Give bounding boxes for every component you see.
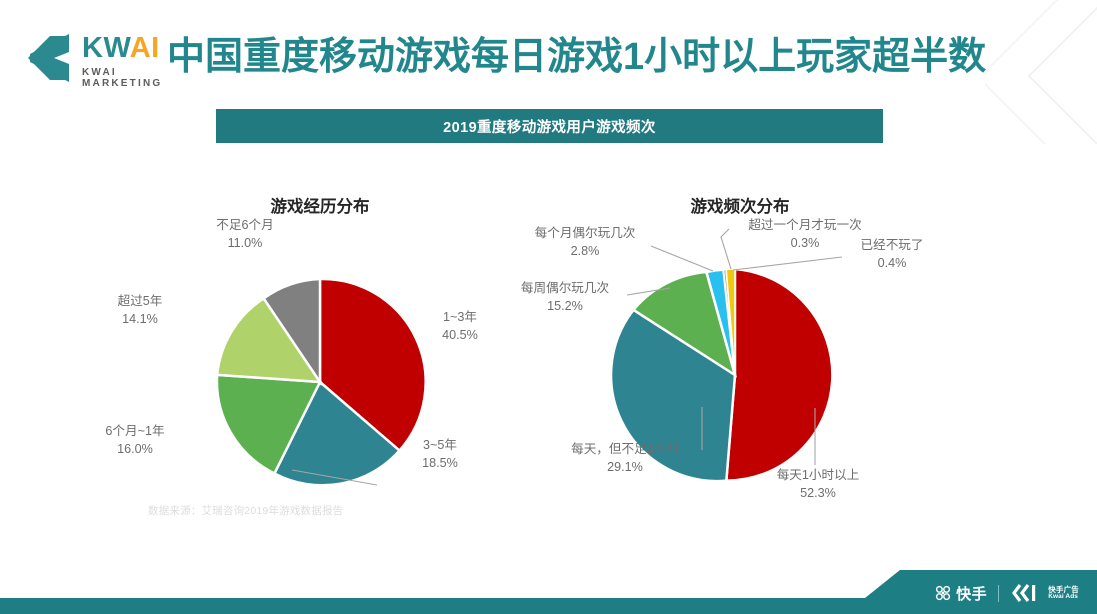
pie-label-3-5-years-value: 18.5% [385,455,495,473]
pie-label-daily-under-1h-name: 每天，但不足1小时 [571,442,679,456]
pie-label-6m-1year-name: 6个月~1年 [105,424,164,438]
leader-line-stopped-playing [733,257,842,270]
pie-label-stopped-playing-value: 0.4% [837,255,947,273]
page-title: 中国重度移动游戏每日游戏1小时以上玩家超半数 [167,38,986,76]
logo-wordmark: KWAI [82,34,174,63]
pie-label-under-6-months-value: 11.0% [180,235,310,253]
logo-tagline: KWAI MARKETING [82,67,174,89]
pie-label-monthly-occasional-value: 2.8% [505,243,665,261]
pie-label-over-5-years: 超过5年 14.1% [75,293,205,329]
section-subtitle-label: 2019重度移动游戏用户游戏频次 [443,116,656,137]
pie-label-stopped-playing: 已经不玩了 0.4% [837,237,947,273]
pie-label-daily-over-1h: 每天1小时以上 52.3% [743,467,893,503]
kwai-marketing-logo: KWAI KWAI MARKETING [24,30,174,86]
pie-label-weekly-occasional: 每周偶尔玩几次 15.2% [495,280,635,316]
kwai-ads-en: Kwai Ads [1048,594,1079,601]
pie-label-weekly-occasional-name: 每周偶尔玩几次 [521,281,609,295]
pie-label-daily-over-1h-name: 每天1小时以上 [777,468,860,482]
logo-wordmark-kw: KW [82,32,130,64]
logo-wordmark-ai: AI [130,32,160,64]
pie-label-under-6-months: 不足6个月 11.0% [180,217,310,253]
kuaishou-brand: 快手 [934,583,987,604]
pie-label-1-3-years-name: 1~3年 [443,310,477,324]
kwai-chevron-mark-icon [24,32,76,84]
kwai-ads-text: 快手广告 Kwai Ads [1048,586,1079,601]
page-footer [0,568,1097,614]
page-header: KWAI KWAI MARKETING 中国重度移动游戏每日游戏1小时以上玩家超… [0,0,1097,100]
pie-label-daily-over-1h-value: 52.3% [743,485,893,503]
pie-label-over-month-once-name: 超过一个月才玩一次 [748,218,861,232]
pie-label-1-3-years-value: 40.5% [405,327,515,345]
chart-gaming-experience: 游戏经历分布 不足6个月 11.0% 超过5年 14.1% 6个月~ [140,185,500,505]
pie-label-6m-1year-value: 16.0% [60,441,210,459]
pie-label-weekly-occasional-value: 15.2% [495,298,635,316]
pie-label-daily-under-1h: 每天，但不足1小时 29.1% [540,441,710,477]
slide-canvas: KWAI KWAI MARKETING 中国重度移动游戏每日游戏1小时以上玩家超… [0,0,1097,614]
pie-label-3-5-years: 3~5年 18.5% [385,437,495,473]
pie-label-monthly-occasional: 每个月偶尔玩几次 2.8% [505,225,665,261]
pie-label-under-6-months-name: 不足6个月 [216,218,273,232]
pie-label-6m-1year: 6个月~1年 16.0% [60,423,210,459]
chart-gaming-frequency: 游戏频次分布 超过一个月才玩一次 0.3% [555,185,955,515]
footer-divider [998,585,999,602]
pie-slice-daily-over-1h [726,269,832,481]
kuaishou-logo-icon [934,584,952,602]
pie-label-monthly-occasional-name: 每个月偶尔玩几次 [535,226,636,240]
kwai-ads-bars-icon [1010,583,1036,603]
footer-brand: 快手 快手广告 Kwai Ads [934,580,1079,606]
pie-label-3-5-years-name: 3~5年 [423,438,457,452]
kuaishou-brand-name: 快手 [956,583,987,604]
pie-label-over-5-years-name: 超过5年 [118,294,163,308]
section-subtitle-bar: 2019重度移动游戏用户游戏频次 [216,109,883,143]
pie-label-stopped-playing-name: 已经不玩了 [861,238,924,252]
pie-label-daily-under-1h-value: 29.1% [540,459,710,477]
pie-label-over-5-years-value: 14.1% [75,311,205,329]
source-note: 数据来源：艾瑞咨询2019年游戏数据报告 [148,503,343,518]
